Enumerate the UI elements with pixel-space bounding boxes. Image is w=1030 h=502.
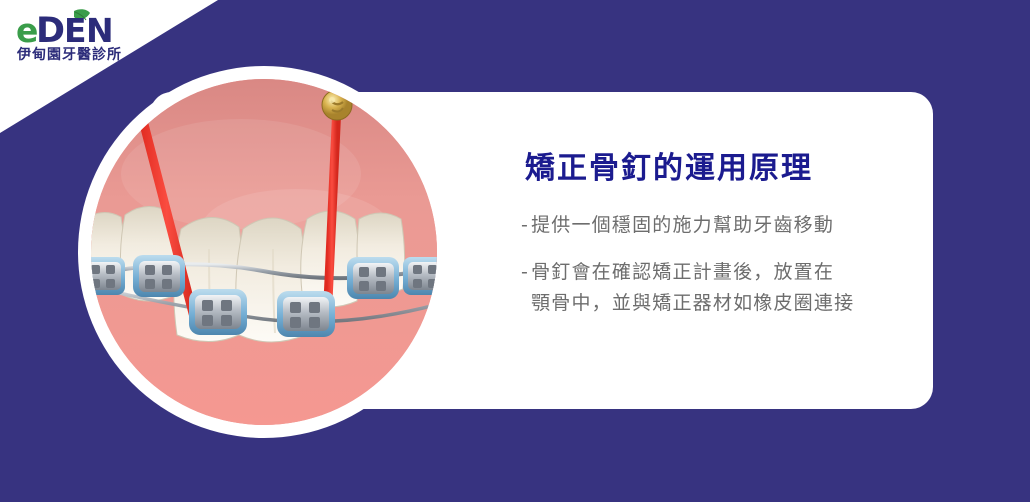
bracket-right-molar	[403, 257, 437, 295]
bracket-left-molar	[91, 257, 125, 295]
page-title: 矯正骨釘的運用原理	[525, 150, 921, 188]
svg-text:N: N	[86, 11, 114, 50]
illustration-image	[91, 79, 437, 425]
bracket-right-lateral	[347, 257, 399, 299]
bracket-right-central	[277, 291, 335, 337]
svg-text:D: D	[36, 11, 65, 51]
bullet-dash: -	[521, 210, 529, 241]
logo-subtitle-text: 伊甸園牙醫診所	[16, 46, 122, 63]
bullet-dash: -	[521, 257, 529, 288]
bullet-text: 骨釘會在確認矯正計畫後，放置在 顎骨中，並與矯正器材如橡皮圈連接	[531, 257, 854, 320]
bracket-left-lateral	[133, 255, 185, 297]
bullet-text: 提供一個穩固的施力幫助牙齒移動	[531, 210, 834, 241]
illustration-circle-frame	[78, 66, 450, 438]
mini-screw-right	[322, 90, 352, 120]
infographic-slide: e D E N 伊甸園牙醫診所	[0, 0, 1030, 502]
bracket-left-central	[189, 289, 247, 335]
svg-text:E: E	[64, 11, 87, 50]
list-item: - 提供一個穩固的施力幫助牙齒移動	[521, 210, 921, 241]
text-column: 矯正骨釘的運用原理 - 提供一個穩固的施力幫助牙齒移動 - 骨釘會在確認矯正計畫…	[521, 150, 921, 336]
brand-logo[interactable]: e D E N 伊甸園牙醫診所	[14, 8, 144, 64]
list-item: - 骨釘會在確認矯正計畫後，放置在 顎骨中，並與矯正器材如橡皮圈連接	[521, 257, 921, 320]
